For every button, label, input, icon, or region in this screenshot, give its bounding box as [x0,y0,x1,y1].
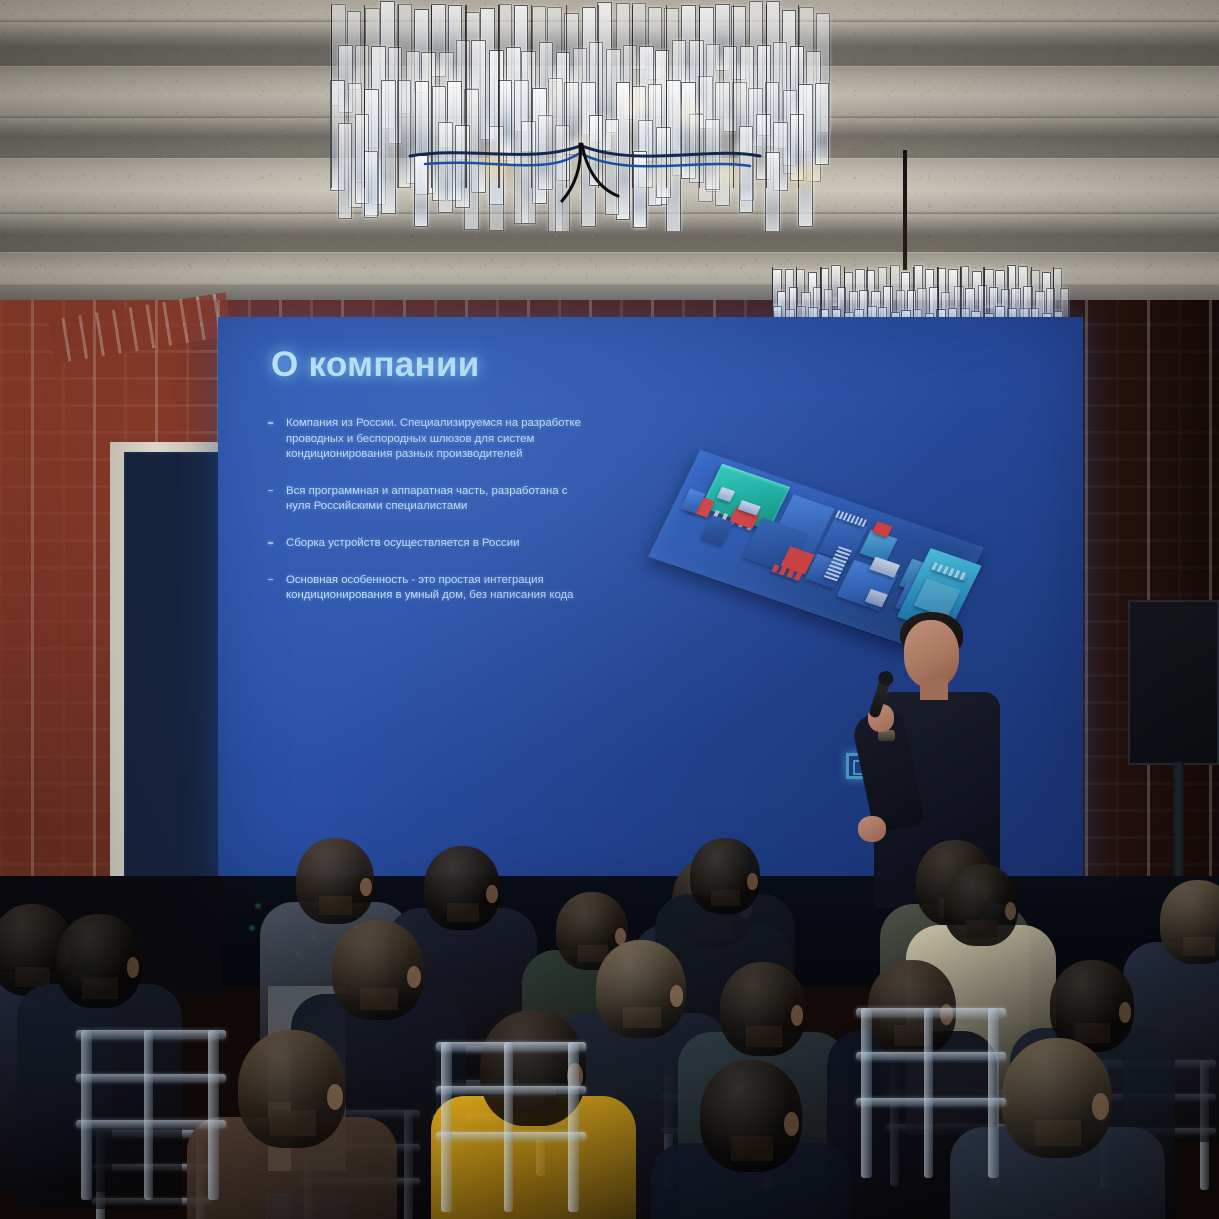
chandelier-wires [330,0,835,231]
chandelier-cord [903,150,907,270]
audience-ear [327,1084,343,1110]
audience-ear [1119,1002,1132,1022]
audience-ear [360,878,372,897]
audience-ear [486,885,497,903]
pa-speaker-on-stand [1128,600,1219,765]
pcb-chip [701,515,733,546]
presentation-photo: О компании Компания из России. Специализ… [0,0,1219,1219]
audience [0,810,1219,1219]
audience-ear [127,957,140,978]
audience-head [1160,880,1219,964]
audience-ear [1005,902,1016,920]
audience-ear [784,1112,799,1137]
slide-bullet: Компания из России. Специализируемся на … [264,416,594,463]
audience-ear [670,985,684,1007]
brick-arch [48,292,233,364]
audience-ear [747,873,758,890]
slide-bullet: Сборка устройств осуществляется в России [264,536,594,552]
slide-bullet-list: Компания из России. Специализируемся на … [264,416,594,625]
acrylic-chair [436,1042,586,1212]
acrylic-chair [856,1008,1006,1178]
slide-bullet: Основная особенность - это простая интег… [264,573,594,604]
presenter-neck [920,678,948,700]
slide-title: О компании [271,345,480,385]
audience-ear [791,1005,804,1026]
audience-ear [1092,1093,1109,1119]
acrylic-chair [76,1030,226,1200]
chandelier-large [330,0,835,231]
slide-bullet: Вся программная и аппаратная часть, разр… [264,484,594,515]
